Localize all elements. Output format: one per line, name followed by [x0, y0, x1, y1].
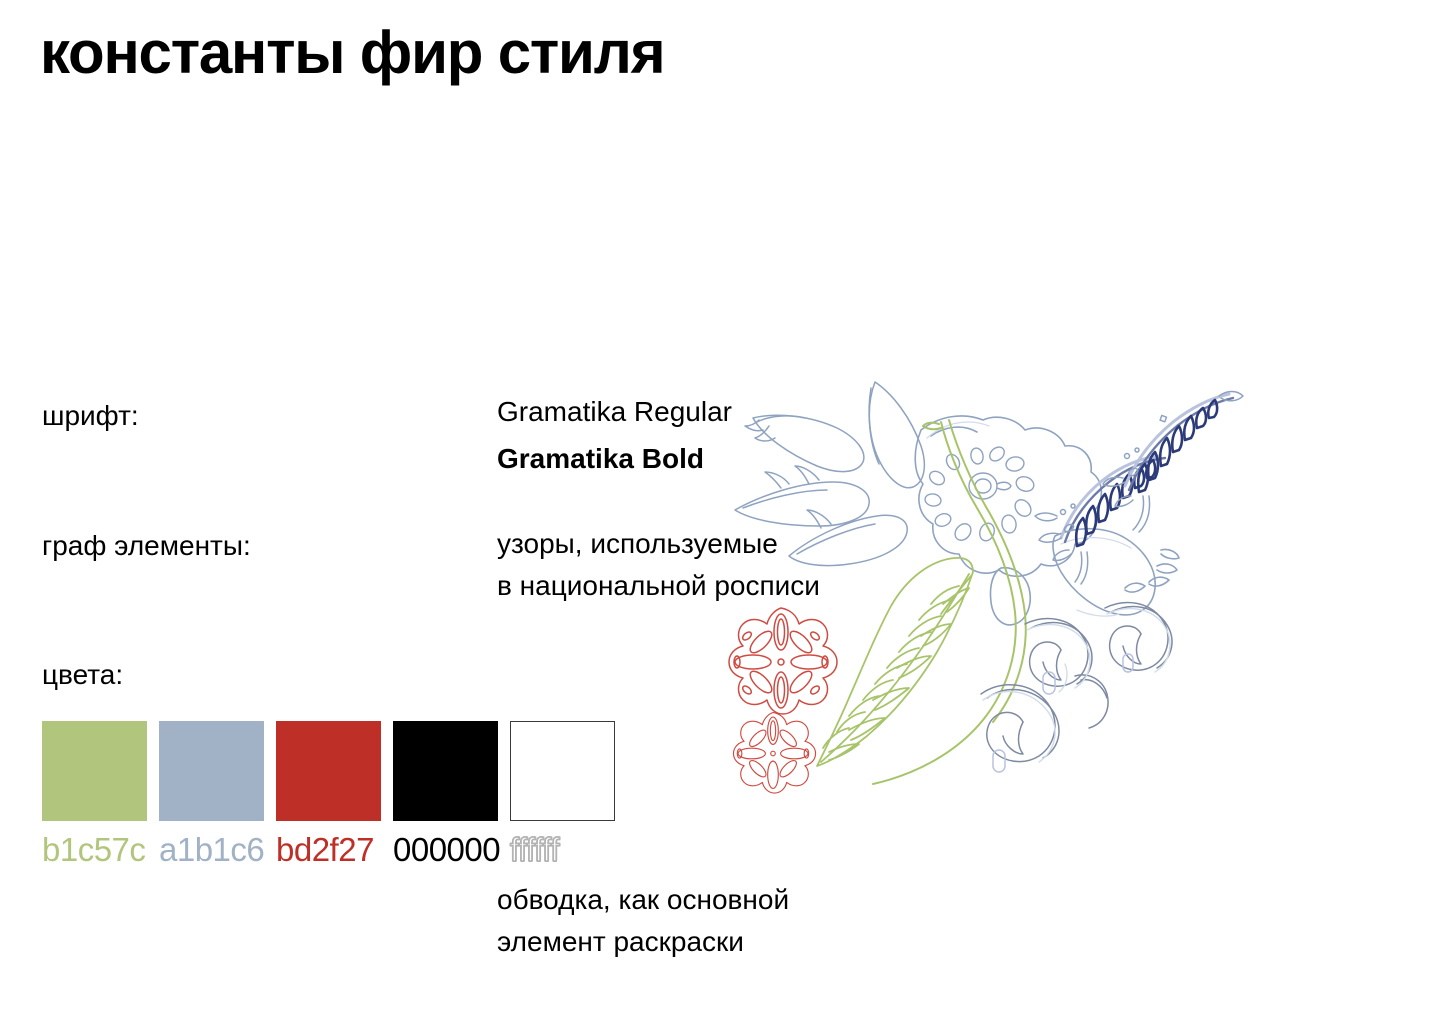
swatch-cell: ffffff [510, 721, 615, 866]
color-swatch-bd2f27[interactable] [276, 721, 381, 821]
spec-label-graphic-elements: граф элементы: [42, 530, 251, 562]
swatch-cell: 000000 [393, 721, 498, 866]
color-swatch-000000[interactable] [393, 721, 498, 821]
color-swatch-a1b1c6[interactable] [159, 721, 264, 821]
swatch-cell: bd2f27 [276, 721, 381, 866]
color-palette: b1c57ca1b1c6bd2f27000000ffffff [42, 721, 615, 866]
long-petals-group [735, 382, 924, 566]
spec-label-colors: цвета: [42, 659, 123, 691]
outline-caption-line-1: обводка, как основной [497, 884, 789, 916]
color-swatch-b1c57c[interactable] [42, 721, 147, 821]
swatch-cell: b1c57c [42, 721, 147, 866]
swatch-hex-label: a1b1c6 [159, 833, 264, 866]
floral-ornament-illustration [725, 360, 1265, 820]
spec-label-font: шрифт: [42, 400, 139, 432]
font-sample-bold: Gramatika Bold [497, 443, 704, 475]
rosette-small [733, 712, 815, 793]
fern-leaf [817, 558, 973, 766]
swatch-hex-label: 000000 [393, 833, 500, 866]
flower-center-ring [924, 444, 1036, 543]
rosette-large [729, 608, 837, 714]
slide-canvas: константы фир стиля шрифт: Gramatika Reg… [0, 0, 1440, 1020]
color-swatch-ffffff[interactable] [510, 721, 615, 821]
scroll-curls [981, 603, 1172, 762]
font-sample-regular: Gramatika Regular [497, 396, 732, 428]
swatch-hex-label: ffffff [510, 833, 559, 866]
outline-caption-line-2: элемент раскраски [497, 926, 744, 958]
plume-right [1103, 392, 1243, 533]
swatch-hex-label: bd2f27 [276, 833, 374, 866]
swatch-cell: a1b1c6 [159, 721, 264, 866]
swatch-hex-label: b1c57c [42, 833, 145, 866]
page-title: константы фир стиля [40, 18, 664, 87]
